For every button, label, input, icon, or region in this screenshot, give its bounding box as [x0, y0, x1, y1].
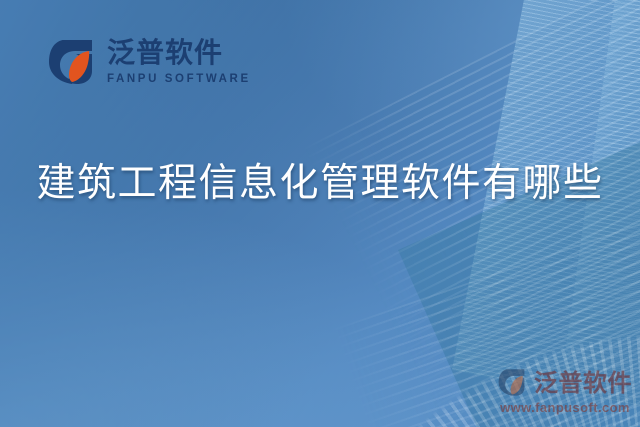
tower-slab-primary — [452, 0, 640, 427]
watermark-name-cn: 泛普软件 — [534, 371, 632, 395]
logo-name-en: FANPU SOFTWARE — [107, 74, 251, 86]
brand-logo[interactable]: 泛普软件 FANPU SOFTWARE — [48, 38, 251, 86]
watermark: 泛普软件 www.fanpusoft.com — [498, 368, 632, 415]
fanpu-watermark-mark-icon — [498, 368, 528, 397]
watermark-url: www.fanpusoft.com — [500, 400, 630, 415]
page-title: 建筑工程信息化管理软件有哪些 — [0, 152, 640, 208]
logo-name-cn: 泛普软件 — [107, 39, 251, 67]
fanpu-logo-mark-icon — [48, 38, 98, 86]
watermark-logo-row: 泛普软件 — [498, 368, 632, 397]
promo-banner: 泛普软件 FANPU SOFTWARE 建筑工程信息化管理软件有哪些 泛普软件 … — [0, 0, 640, 427]
logo-wordmark: 泛普软件 FANPU SOFTWARE — [107, 39, 251, 86]
diagonal-beams-upper — [300, 0, 640, 427]
